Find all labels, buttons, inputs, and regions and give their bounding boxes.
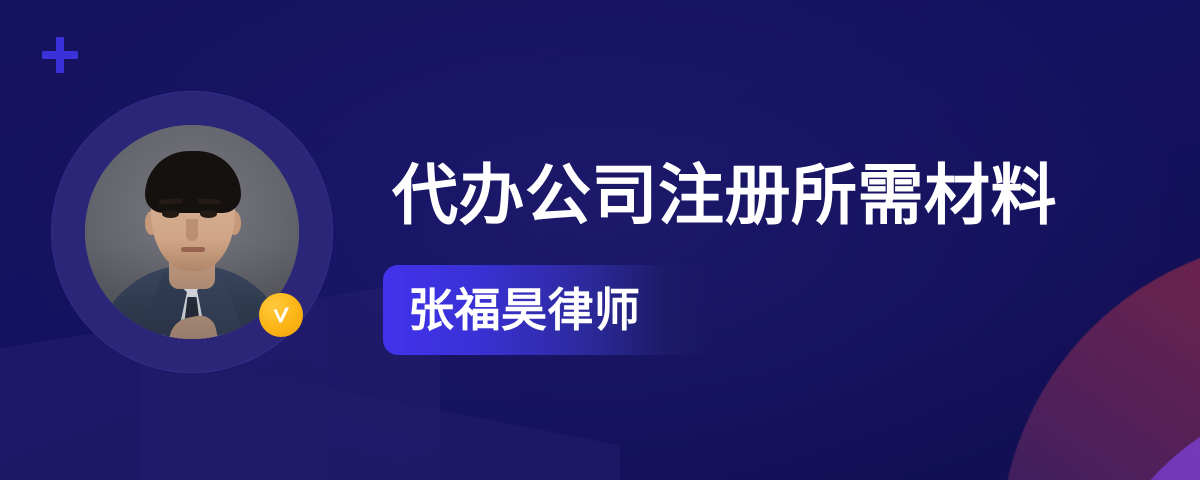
speaker-name-badge: 张福昊律师 — [383, 265, 713, 355]
verified-check-icon — [259, 293, 303, 337]
page-title: 代办公司注册所需材料 — [392, 157, 1057, 233]
speaker-name-label: 张福昊律师 — [383, 285, 641, 335]
lawyer-video-banner: 代办公司注册所需材料 张福昊律师 — [0, 0, 1200, 480]
plus-icon — [42, 37, 78, 73]
plus-icon-bar-vertical — [56, 37, 64, 73]
